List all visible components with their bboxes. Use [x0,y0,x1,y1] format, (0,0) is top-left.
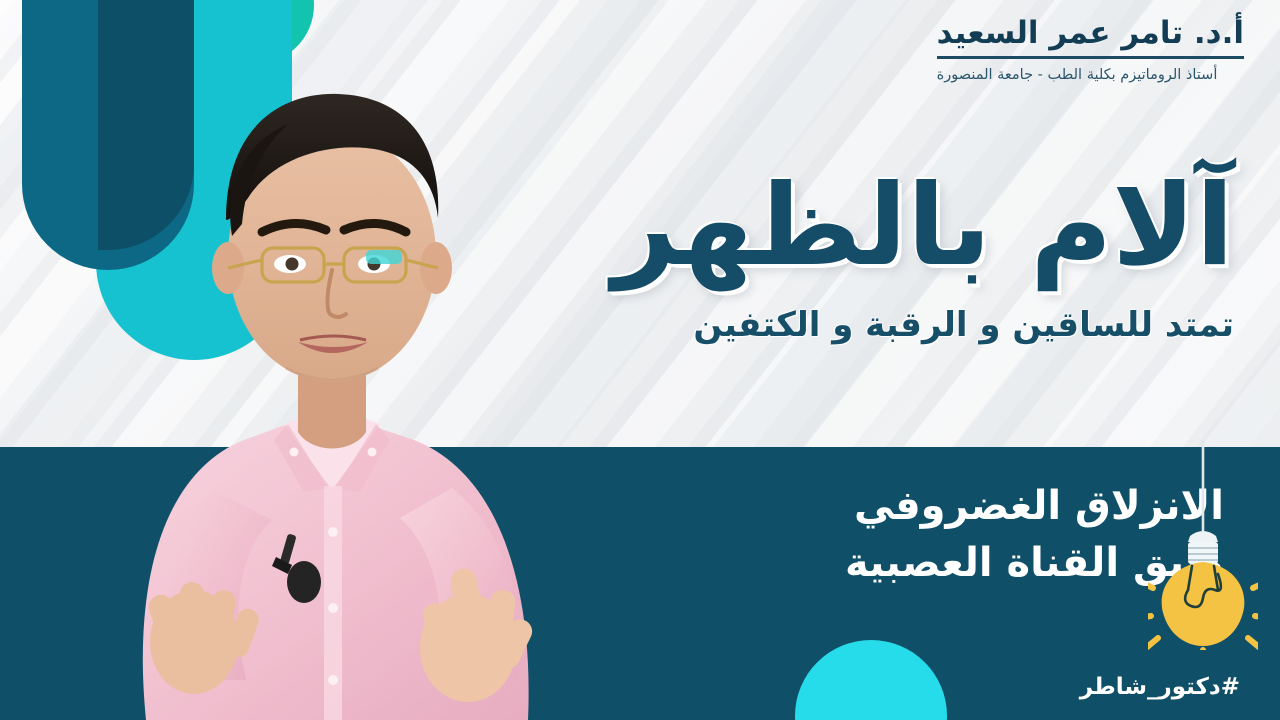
doctor-subtitle: أستاذ الروماتيزم بكلية الطب - جامعة المن… [937,67,1244,84]
title-subtitle: تمتد للساقين و الرقبة و الكتفين [612,305,1234,346]
doctor-name: أ.د. تامر عمر السعيد [937,16,1244,59]
doctor-name-block: أ.د. تامر عمر السعيد أستاذ الروماتيزم بك… [937,16,1244,84]
thumbnail-canvas: أ.د. تامر عمر السعيد أستاذ الروماتيزم بك… [0,0,1280,720]
cyan-circle-decoration [795,640,947,720]
main-title: آلام بالظهر [612,166,1234,287]
title-block: آلام بالظهر تمتد للساقين و الرقبة و الكت… [612,166,1234,346]
hashtag: #دكتور_شاطر [1080,674,1240,700]
lightbulb-icon [1148,440,1258,650]
